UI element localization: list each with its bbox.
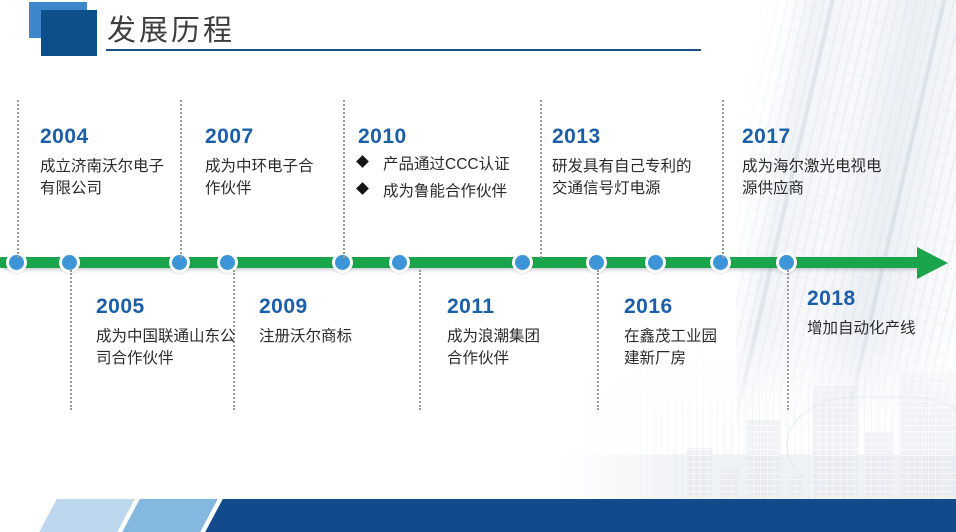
entry-description: 增加自动化产线	[807, 318, 955, 340]
timeline-entry-2004[interactable]: 2004 成立济南沃尔电子有限公司	[40, 126, 170, 200]
connector-line-2011	[419, 270, 421, 410]
entry-description: 研发具有自己专利的交通信号灯电源	[552, 156, 704, 200]
header-square-dark	[41, 10, 97, 56]
connector-line-2016	[597, 270, 599, 410]
entry-year: 2016	[624, 296, 724, 317]
entry-description: 成立济南沃尔电子有限公司	[40, 156, 170, 200]
connector-line-2010	[343, 100, 345, 258]
entry-description: 成为浪潮集团合作伙伴	[447, 326, 555, 370]
footer-band-mid	[122, 499, 218, 532]
connector-line-2017	[722, 100, 724, 258]
timeline-entry-2009[interactable]: 2009 注册沃尔商标	[259, 296, 399, 348]
timeline-entry-2013[interactable]: 2013 研发具有自己专利的交通信号灯电源	[552, 126, 704, 200]
entry-year: 2005	[96, 296, 236, 317]
timeline-entry-2010[interactable]: 2010 产品通过CCC认证 成为鲁能合作伙伴	[358, 126, 518, 208]
connector-line-2005	[70, 270, 72, 410]
timeline-entry-2011[interactable]: 2011 成为浪潮集团合作伙伴	[447, 296, 555, 370]
timeline-dot[interactable]	[389, 252, 410, 273]
timeline-arrow-head-icon	[917, 247, 948, 279]
diamond-bullet-icon	[356, 182, 369, 195]
connector-line-2007	[180, 100, 182, 258]
entry-description: 成为中环电子合作伙伴	[205, 156, 323, 200]
entry-description: 成为海尔激光电视电源供应商	[742, 156, 882, 200]
connector-line-2018	[787, 270, 789, 410]
connector-line-2004	[17, 100, 19, 258]
slide-canvas: 发展历程 2004 成立济南沃尔电子有限公司 2007 成为中环电子合作伙伴 2…	[0, 0, 956, 532]
timeline-entry-2005[interactable]: 2005 成为中国联通山东公司合作伙伴	[96, 296, 236, 370]
entry-year: 2009	[259, 296, 399, 317]
timeline-entry-2018[interactable]: 2018 增加自动化产线	[807, 288, 955, 340]
list-item: 产品通过CCC认证	[358, 154, 518, 176]
bullet-text: 成为鲁能合作伙伴	[383, 183, 507, 200]
entry-year: 2011	[447, 296, 555, 317]
cityscape-background-image	[536, 314, 956, 504]
header-divider	[106, 49, 701, 51]
timeline-entry-2016[interactable]: 2016 在鑫茂工业园建新厂房	[624, 296, 724, 370]
entry-description: 成为中国联通山东公司合作伙伴	[96, 326, 236, 370]
timeline-dot[interactable]	[710, 252, 731, 273]
entry-year: 2018	[807, 288, 955, 309]
timeline-dot[interactable]	[512, 252, 533, 273]
timeline-dot[interactable]	[645, 252, 666, 273]
footer-band-dark	[205, 499, 956, 532]
diamond-bullet-icon	[356, 155, 369, 168]
entry-year: 2004	[40, 126, 170, 147]
bullet-text: 产品通过CCC认证	[383, 156, 510, 173]
entry-year: 2013	[552, 126, 704, 147]
entry-year: 2007	[205, 126, 323, 147]
entry-description: 在鑫茂工业园建新厂房	[624, 326, 724, 370]
list-item: 成为鲁能合作伙伴	[358, 181, 518, 203]
timeline-entry-2007[interactable]: 2007 成为中环电子合作伙伴	[205, 126, 323, 200]
timeline-entry-2017[interactable]: 2017 成为海尔激光电视电源供应商	[742, 126, 882, 200]
connector-line-2013	[540, 100, 542, 258]
entry-bullet-list: 产品通过CCC认证 成为鲁能合作伙伴	[358, 154, 518, 203]
footer-band-light	[39, 499, 135, 532]
entry-year: 2010	[358, 126, 518, 147]
entry-description: 注册沃尔商标	[259, 326, 399, 348]
page-title: 发展历程	[107, 7, 235, 49]
entry-year: 2017	[742, 126, 882, 147]
